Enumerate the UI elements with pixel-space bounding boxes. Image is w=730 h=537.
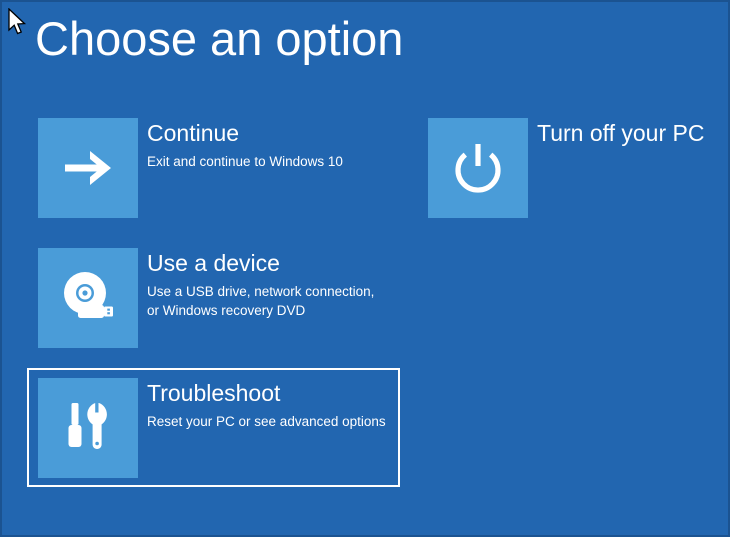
- option-use-a-device-tile[interactable]: [38, 248, 138, 348]
- option-turn-off-your-pc-title: Turn off your PC: [537, 120, 704, 148]
- option-continue-tile[interactable]: [38, 118, 138, 218]
- screwdriver-wrench-icon: [58, 398, 118, 458]
- option-use-a-device-title: Use a device: [147, 250, 374, 278]
- option-turn-off-your-pc[interactable]: Turn off your PC: [428, 118, 704, 218]
- option-use-a-device-labels: Use a device Use a USB drive, network co…: [147, 248, 374, 321]
- option-continue-subtitle-line1: Exit and continue to Windows 10: [147, 152, 343, 172]
- option-continue[interactable]: Continue Exit and continue to Windows 10: [38, 118, 343, 218]
- option-use-a-device[interactable]: Use a device Use a USB drive, network co…: [38, 248, 374, 348]
- option-troubleshoot-labels: Troubleshoot Reset your PC or see advanc…: [147, 378, 386, 431]
- option-continue-labels: Continue Exit and continue to Windows 10: [147, 118, 343, 171]
- power-icon: [447, 137, 509, 199]
- mouse-cursor: [8, 8, 28, 38]
- choose-an-option-screen: Choose an option Continue Exit and conti…: [0, 0, 730, 537]
- page-title: Choose an option: [35, 10, 403, 69]
- option-turn-off-your-pc-labels: Turn off your PC: [537, 118, 704, 148]
- option-use-a-device-subtitle-line1: Use a USB drive, network connection,: [147, 282, 374, 302]
- option-troubleshoot[interactable]: Troubleshoot Reset your PC or see advanc…: [38, 378, 386, 478]
- option-troubleshoot-title: Troubleshoot: [147, 380, 386, 408]
- option-troubleshoot-subtitle-line1: Reset your PC or see advanced options: [147, 412, 386, 432]
- option-troubleshoot-tile[interactable]: [38, 378, 138, 478]
- disc-usb-icon: [56, 266, 120, 330]
- option-turn-off-your-pc-tile[interactable]: [428, 118, 528, 218]
- option-continue-title: Continue: [147, 120, 343, 148]
- option-use-a-device-subtitle-line2: or Windows recovery DVD: [147, 301, 374, 321]
- arrow-right-icon: [57, 137, 119, 199]
